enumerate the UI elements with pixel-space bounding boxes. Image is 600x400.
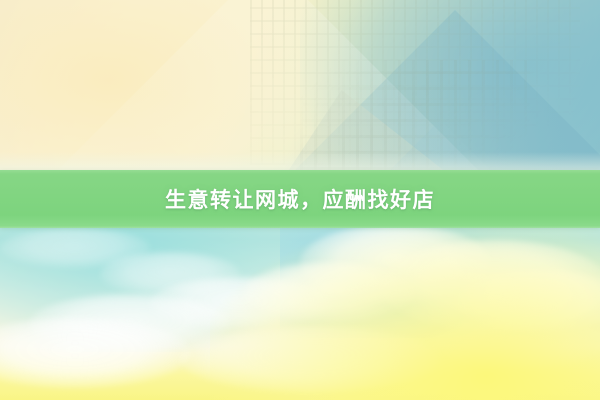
- bottom-sky-panel: [0, 222, 600, 400]
- headline-text: 生意转让网城，应酬找好店: [165, 184, 435, 214]
- horizon-yellow-glow: [210, 222, 600, 400]
- promo-banner: 生意转让网城，应酬找好店: [0, 0, 600, 400]
- headline-band: 生意转让网城，应酬找好店: [0, 170, 600, 228]
- top-artwork-panel: [0, 0, 600, 178]
